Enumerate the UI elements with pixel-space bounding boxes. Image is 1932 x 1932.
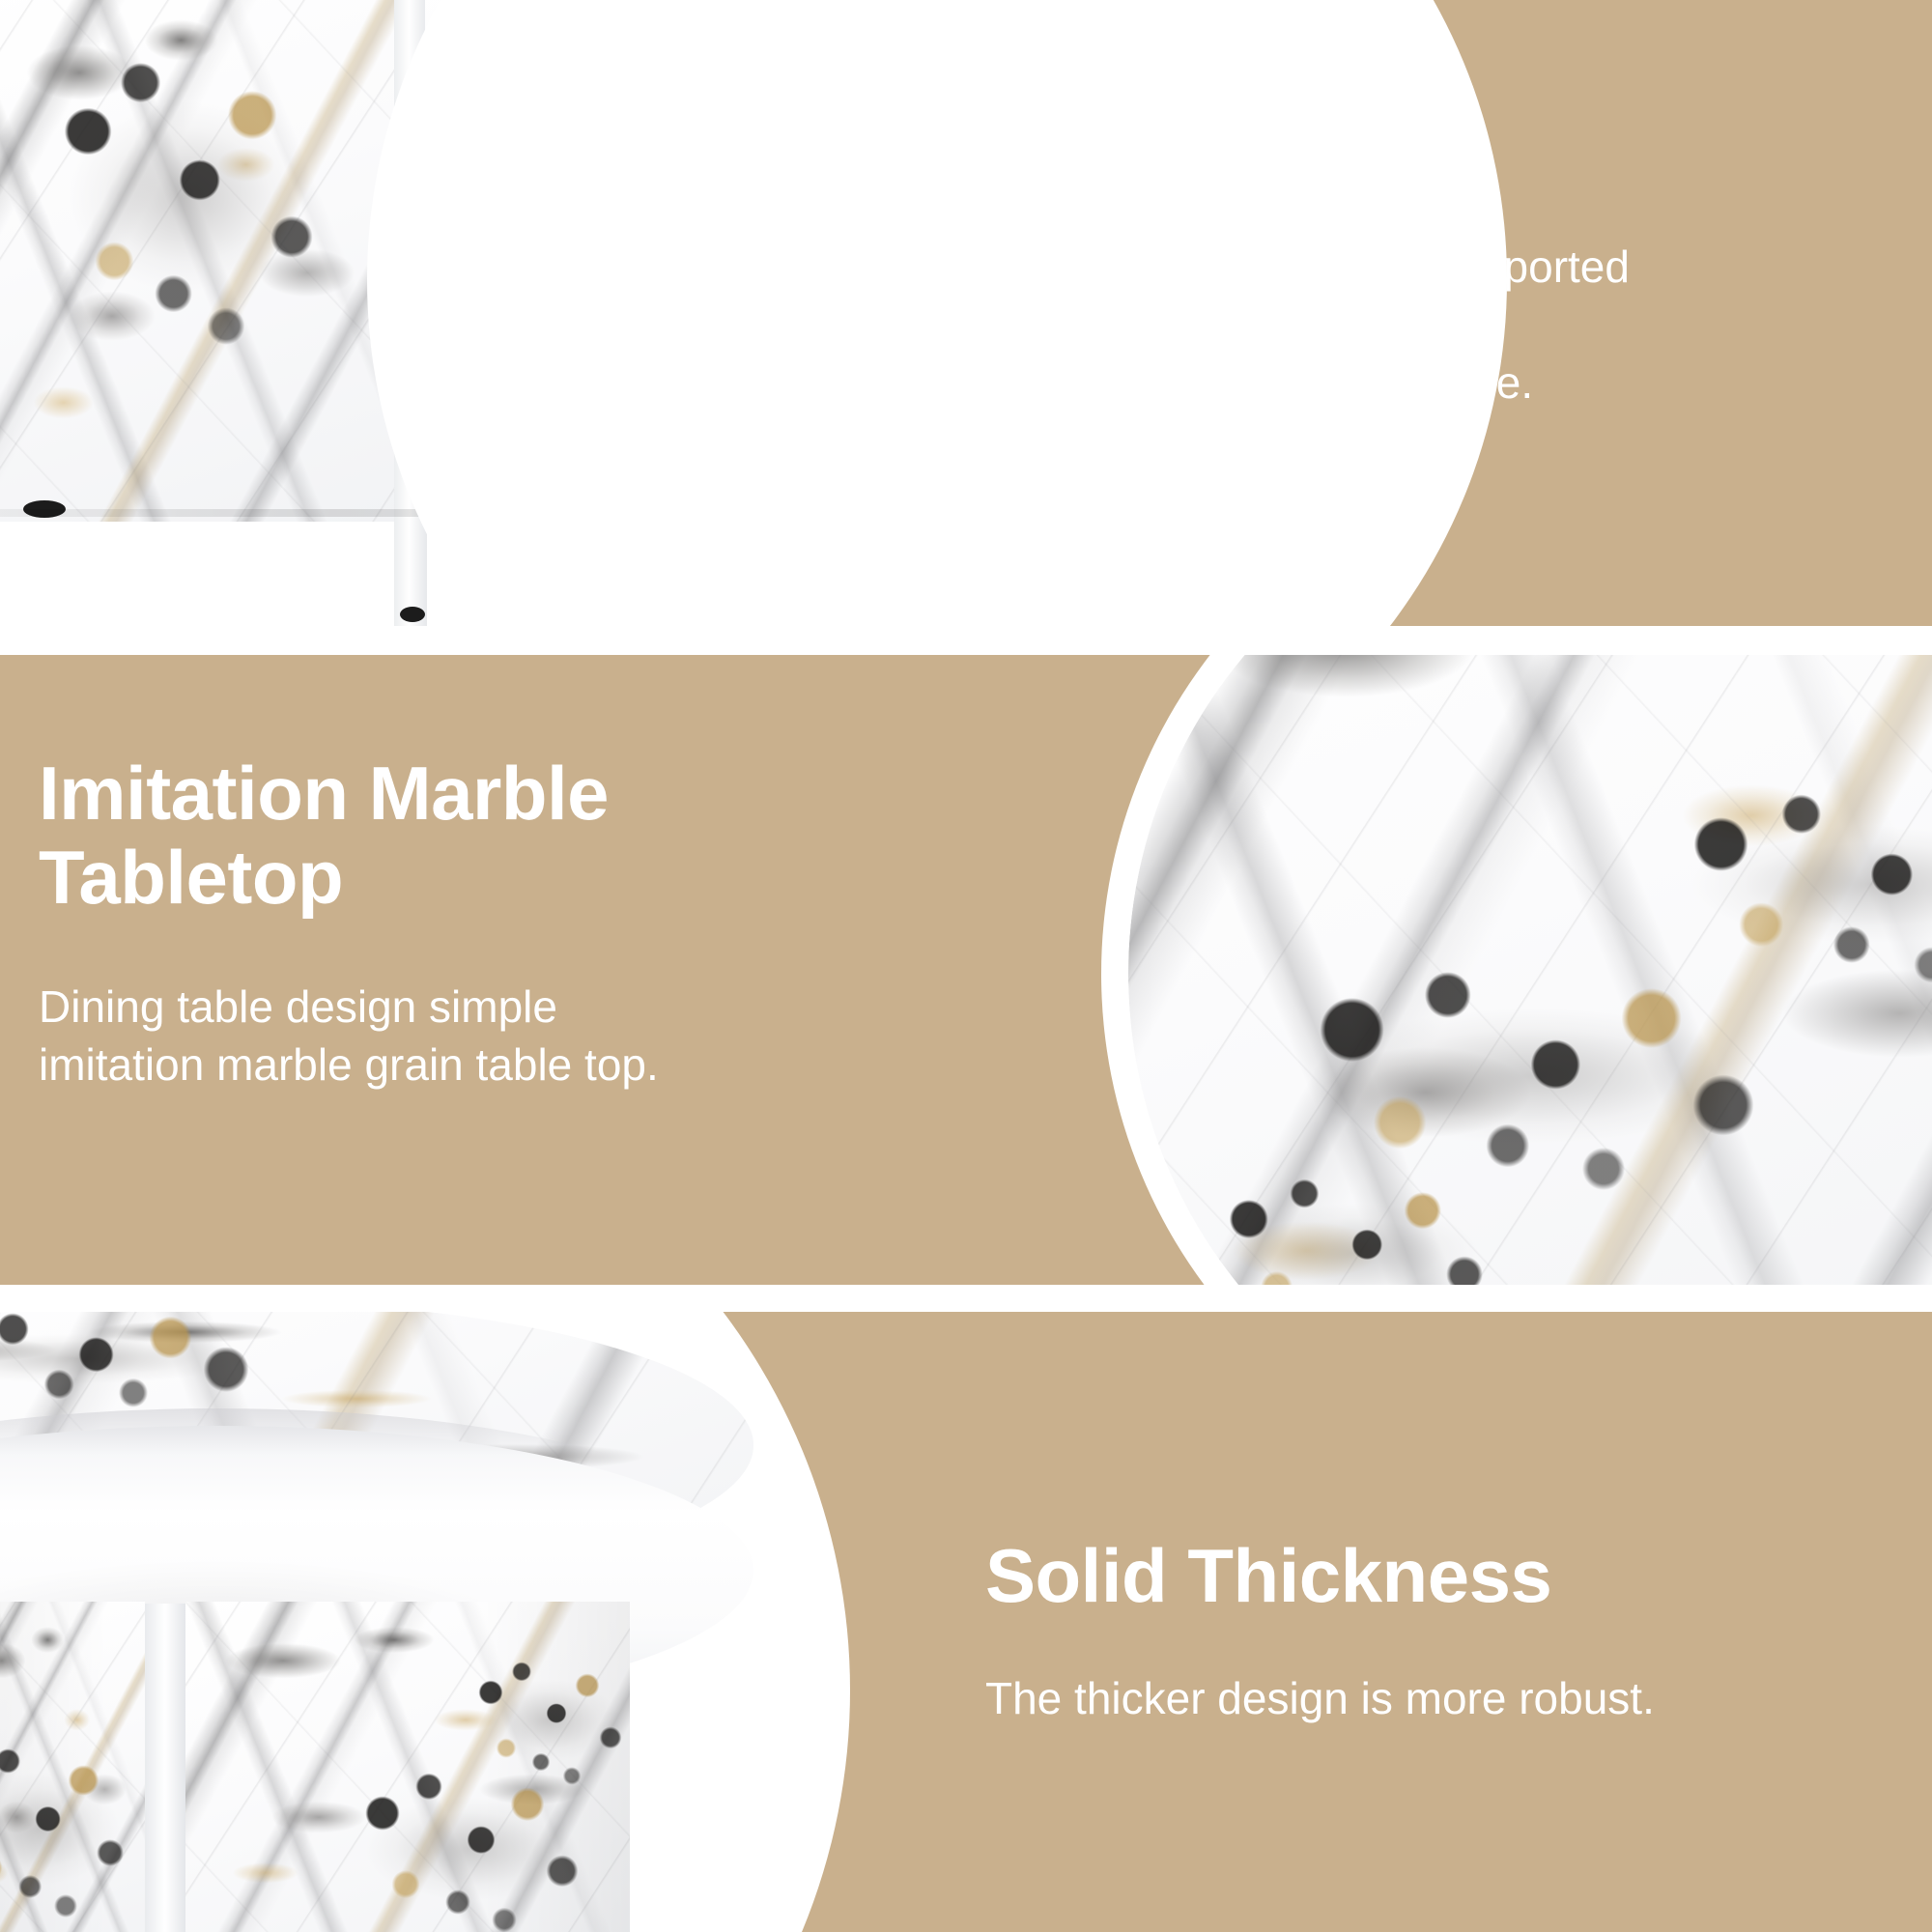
panel-headline-imitation-marble-tabletop: Imitation Marble Tabletop — [39, 752, 1024, 921]
feature-panel-sturdy-base: Sturdy Base A cross-shaped base supporte… — [0, 0, 1932, 626]
panel-body-imitation-marble-tabletop: Dining table design simple imitation mar… — [39, 979, 1024, 1094]
copy-block-solid-thickness: Solid Thickness The thicker design is mo… — [985, 1534, 1913, 1728]
panel-headline-sturdy-base: Sturdy Base — [1005, 100, 1855, 185]
panel-body-sturdy-base: A cross-shaped base supported the tablet… — [1005, 239, 1855, 412]
feature-panel-solid-thickness: Solid Thickness The thicker design is mo… — [0, 1312, 1932, 1932]
panel-headline-solid-thickness: Solid Thickness — [985, 1534, 1913, 1618]
feature-panel-imitation-marble-tabletop: Imitation Marble Tabletop Dining table d… — [0, 655, 1932, 1285]
product-feature-infographic: Sturdy Base A cross-shaped base supporte… — [0, 0, 1932, 1932]
product-photo-marble-tabletop — [1128, 655, 1932, 1285]
copy-block-marble-top: Imitation Marble Tabletop Dining table d… — [39, 752, 1024, 1094]
product-photo-solid-thickness — [0, 1312, 850, 1932]
panel-body-solid-thickness: The thicker design is more robust. — [985, 1670, 1913, 1728]
copy-block-sturdy-base: Sturdy Base A cross-shaped base supporte… — [1005, 100, 1855, 412]
